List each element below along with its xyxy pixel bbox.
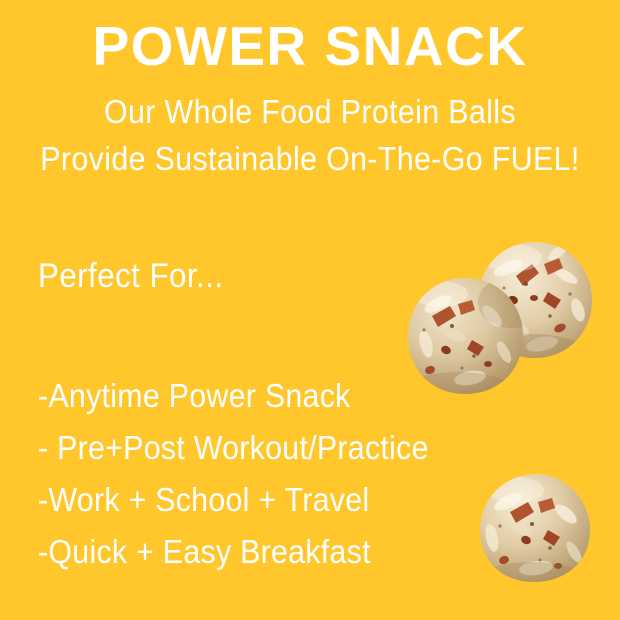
- page-title: POWER SNACK: [0, 16, 620, 76]
- list-item: - Pre+Post Workout/Practice: [38, 422, 470, 474]
- subheadline-line-2: Provide Sustainable On-The-Go FUEL!: [25, 135, 595, 182]
- perfect-for-label: Perfect For...: [38, 256, 223, 296]
- benefits-list: -Anytime Power Snack - Pre+Post Workout/…: [38, 370, 508, 578]
- list-item: -Quick + Easy Breakfast: [38, 526, 470, 578]
- subheadline-line-1: Our Whole Food Protein Balls: [25, 88, 595, 135]
- protein-ball-pair-image: [400, 232, 600, 397]
- power-snack-poster: POWER SNACK Our Whole Food Protein Balls…: [0, 0, 620, 620]
- protein-ball-single-image: [470, 468, 600, 586]
- subheadline-block: Our Whole Food Protein Balls Provide Sus…: [0, 88, 620, 182]
- protein-ball-pair-graphic: [400, 232, 600, 397]
- protein-ball-single-graphic: [470, 468, 600, 586]
- list-item: -Work + School + Travel: [38, 474, 470, 526]
